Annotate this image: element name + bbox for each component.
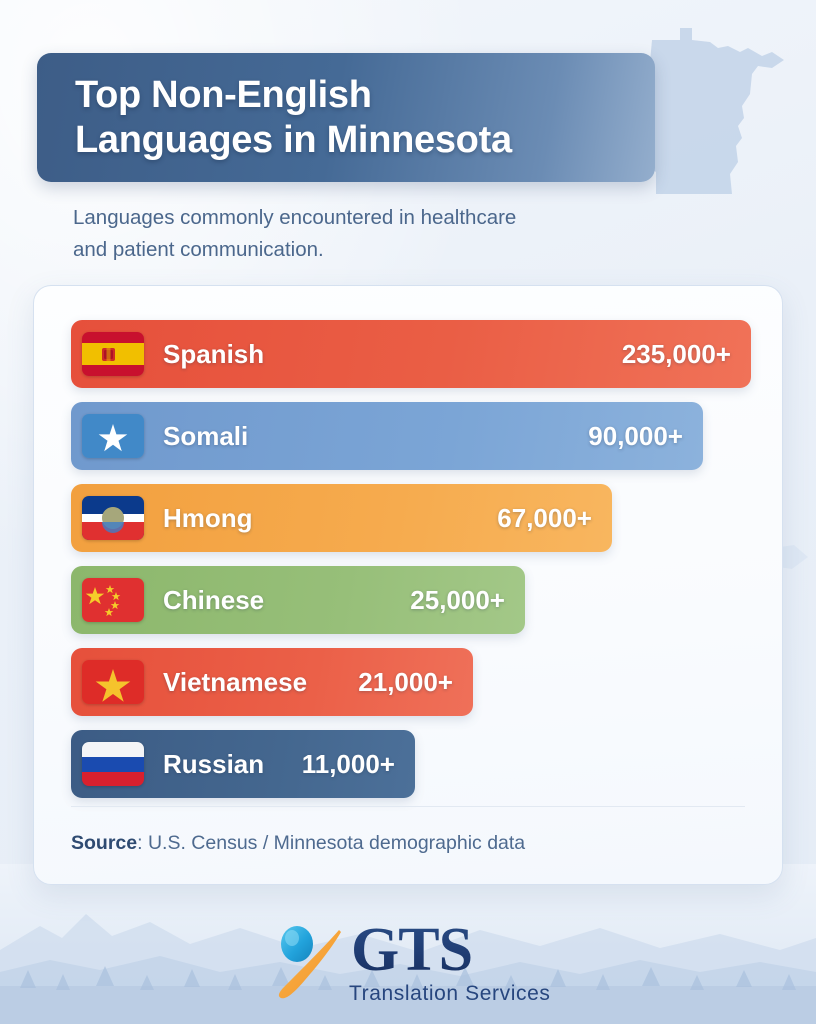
card-divider [71, 806, 745, 807]
bar-label-spanish: Spanish [163, 339, 264, 370]
logo-tagline: Translation Services [349, 982, 550, 1005]
source-text: U.S. Census / Minnesota demographic data [148, 832, 525, 854]
gts-logo[interactable]: GTS Translation Services [263, 912, 553, 1012]
bar-label-vietnamese: Vietnamese [163, 667, 307, 698]
bar-value-chinese: 25,000+ [410, 585, 505, 616]
bar-row-spanish[interactable]: Spanish 235,000+ [71, 320, 751, 388]
bar-row-russian[interactable]: Russian 11,000+ [71, 730, 415, 798]
bar-label-chinese: Chinese [163, 585, 264, 616]
minnesota-map-silhouette-top [632, 22, 788, 212]
china-flag-icon [82, 578, 144, 622]
bar-value-somali: 90,000+ [588, 421, 683, 452]
chart-card: Spanish 235,000+ Somali 90,000+ [33, 285, 783, 885]
header-banner: Top Non-English Languages in Minnesota [37, 53, 655, 182]
bar-label-russian: Russian [163, 749, 264, 780]
page-title: Top Non-English Languages in Minnesota [75, 73, 655, 163]
source-label: Source [71, 832, 137, 854]
bar-row-chinese[interactable]: Chinese 25,000+ [71, 566, 525, 634]
bar-row-hmong[interactable]: Hmong 67,000+ [71, 484, 612, 552]
page-subtitle: Languages commonly encountered in health… [73, 202, 653, 266]
bar-label-somali: Somali [163, 421, 248, 452]
bar-row-somali[interactable]: Somali 90,000+ [71, 402, 703, 470]
spain-flag-icon [82, 332, 144, 376]
russia-flag-icon [82, 742, 144, 786]
globe-shape [281, 926, 313, 962]
language-bar-chart: Spanish 235,000+ Somali 90,000+ [71, 320, 782, 798]
hmong-flag-icon [82, 496, 144, 540]
bar-label-hmong: Hmong [163, 503, 253, 534]
bar-value-spanish: 235,000+ [622, 339, 731, 370]
bar-row-vietnamese[interactable]: Vietnamese 21,000+ [71, 648, 473, 716]
source-separator: : [137, 832, 148, 854]
bar-value-hmong: 67,000+ [497, 503, 592, 534]
vietnam-flag-icon [82, 660, 144, 704]
source-note: Source: U.S. Census / Minnesota demograp… [71, 832, 525, 855]
bar-value-russian: 11,000+ [302, 749, 395, 780]
bar-value-vietnamese: 21,000+ [358, 667, 453, 698]
logo-wordmark: GTS [351, 916, 472, 984]
somalia-flag-icon [82, 414, 144, 458]
